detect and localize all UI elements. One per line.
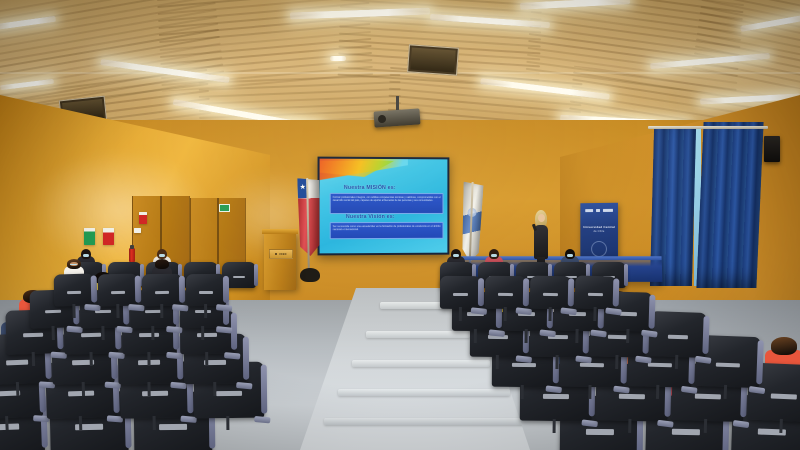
seat-leg bbox=[495, 355, 498, 369]
seat-side-trim bbox=[135, 275, 142, 303]
seat-leg bbox=[205, 352, 208, 366]
seat-side-trim bbox=[254, 264, 258, 286]
seat-leg bbox=[553, 419, 556, 433]
seat-label bbox=[543, 393, 569, 398]
seat-label bbox=[216, 391, 241, 396]
auditorium-seat[interactable] bbox=[440, 276, 481, 309]
face-mask bbox=[83, 254, 89, 257]
seat-side-trim bbox=[478, 278, 484, 306]
seat-leg bbox=[626, 329, 629, 343]
seat-leg bbox=[615, 355, 618, 369]
seat-leg bbox=[147, 382, 150, 396]
seat-armrest bbox=[254, 416, 270, 423]
seat-leg bbox=[102, 326, 105, 340]
seat-leg bbox=[73, 304, 76, 318]
audience-hair bbox=[155, 259, 169, 269]
face-mask bbox=[453, 254, 459, 257]
seat-leg bbox=[147, 352, 150, 366]
seat-leg bbox=[153, 416, 156, 430]
seat-label bbox=[512, 362, 535, 367]
seat-label bbox=[588, 293, 603, 296]
seat-leg bbox=[521, 385, 524, 399]
seat-leg bbox=[161, 304, 164, 318]
seat-side-trim bbox=[179, 276, 185, 304]
seat-leg bbox=[151, 326, 154, 340]
seat-leg bbox=[459, 307, 462, 321]
seat-label bbox=[199, 291, 213, 294]
seat-label bbox=[695, 393, 721, 399]
seat-label bbox=[543, 293, 558, 296]
seat-label bbox=[145, 310, 162, 314]
seat-leg bbox=[15, 382, 19, 396]
seat-leg bbox=[473, 329, 476, 343]
seat-label bbox=[0, 424, 19, 431]
seat-leg bbox=[704, 419, 707, 433]
seat-side-trim bbox=[523, 278, 529, 306]
seat-side-trim bbox=[243, 337, 249, 380]
seat-leg bbox=[628, 419, 631, 433]
seat-leg bbox=[117, 304, 120, 318]
seat-side-trim bbox=[91, 275, 98, 303]
seat-label bbox=[6, 360, 28, 365]
seat-side-trim bbox=[568, 278, 575, 306]
seat-leg bbox=[548, 307, 551, 321]
seat-label bbox=[81, 333, 101, 337]
seat-label bbox=[498, 293, 513, 296]
auditorium-seat[interactable] bbox=[485, 276, 526, 310]
seat-leg bbox=[79, 416, 82, 430]
seat-leg bbox=[575, 329, 578, 343]
auditorium-seat[interactable] bbox=[54, 274, 95, 307]
seat-leg bbox=[555, 355, 558, 369]
seat-label bbox=[139, 333, 159, 337]
seat-label bbox=[671, 429, 700, 435]
auditorium-seat[interactable] bbox=[186, 274, 226, 306]
seat-leg bbox=[226, 416, 229, 430]
seat-leg bbox=[589, 385, 592, 399]
auditorium-seat[interactable] bbox=[649, 311, 706, 358]
seat-leg bbox=[504, 307, 507, 321]
seat-leg bbox=[89, 352, 92, 366]
seat-label bbox=[45, 310, 62, 314]
seat-label bbox=[233, 276, 245, 278]
auditorium-photo: Nuestra MISIÓN es: Formar profesionales … bbox=[0, 0, 800, 450]
seat-leg bbox=[593, 307, 596, 321]
seat-label bbox=[111, 290, 125, 293]
seat-leg bbox=[779, 419, 783, 433]
seat-label bbox=[620, 312, 637, 316]
seat-leg bbox=[81, 382, 84, 396]
seat-leg bbox=[524, 329, 527, 343]
seating-area bbox=[0, 0, 800, 450]
seat-leg bbox=[204, 304, 207, 318]
seat-leg bbox=[213, 382, 216, 396]
seat-leg bbox=[675, 355, 678, 369]
seat-side-trim bbox=[261, 365, 268, 413]
face-mask bbox=[567, 254, 573, 257]
seat-label bbox=[586, 429, 615, 435]
seat-label bbox=[155, 291, 169, 294]
seat-side-trim bbox=[624, 264, 628, 286]
seat-label bbox=[195, 310, 212, 314]
auditorium-seat[interactable] bbox=[142, 274, 182, 307]
seat-label bbox=[619, 393, 645, 399]
seat-leg bbox=[724, 385, 728, 399]
seat-label bbox=[23, 333, 43, 338]
seat-side-trim bbox=[649, 295, 656, 329]
seat-leg bbox=[5, 416, 9, 430]
auditorium-seat[interactable] bbox=[98, 274, 139, 307]
seat-label bbox=[159, 424, 187, 430]
seat-leg bbox=[201, 326, 204, 340]
seat-side-trim bbox=[223, 276, 229, 304]
seat-side-trim bbox=[613, 278, 620, 307]
auditorium-seat[interactable] bbox=[575, 275, 617, 309]
seat-leg bbox=[656, 385, 659, 399]
seat-label bbox=[771, 393, 797, 399]
seat-label bbox=[580, 362, 603, 367]
auditorium-seat[interactable] bbox=[530, 276, 572, 310]
audience-hair bbox=[771, 337, 797, 354]
seat-label bbox=[648, 362, 671, 367]
face-mask bbox=[159, 254, 165, 257]
seat-leg bbox=[31, 352, 34, 366]
seat-label bbox=[197, 333, 216, 337]
audience-member bbox=[764, 337, 800, 366]
seat-label bbox=[716, 362, 739, 367]
seat-leg bbox=[52, 326, 55, 340]
face-mask bbox=[491, 254, 497, 257]
seat-label bbox=[453, 293, 468, 296]
seat-label bbox=[67, 290, 81, 293]
